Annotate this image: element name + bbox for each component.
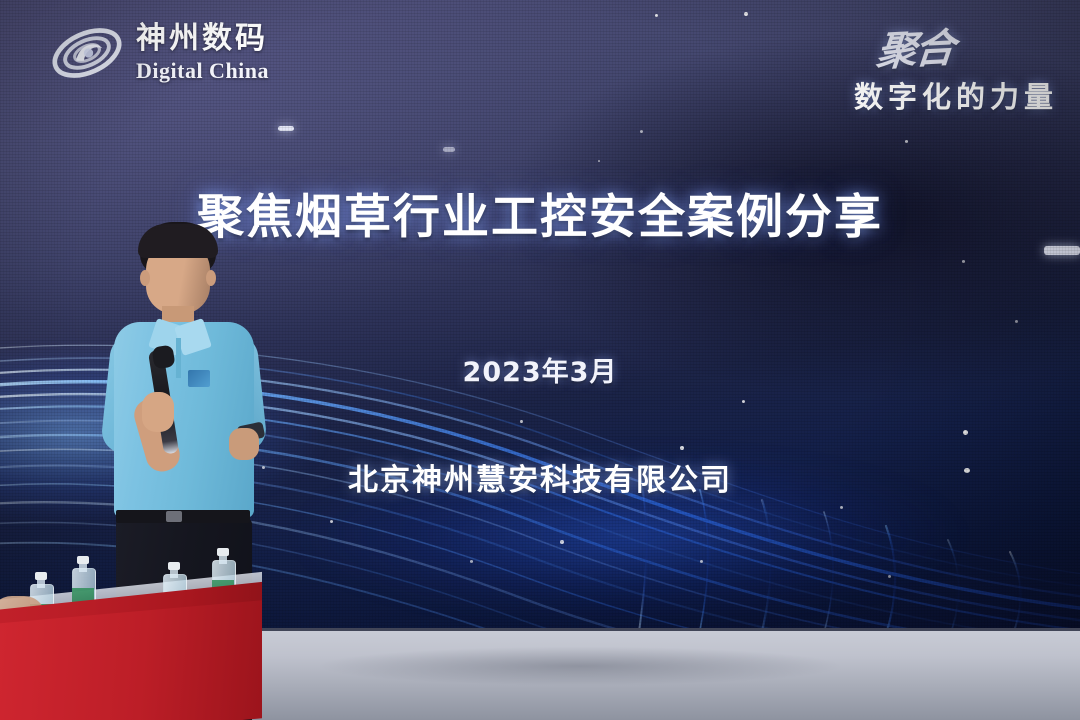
digital-china-spiral-icon bbox=[48, 22, 126, 84]
particle bbox=[655, 14, 658, 17]
particle bbox=[744, 12, 748, 16]
speaker-hand-right bbox=[229, 428, 259, 460]
speaker-ear-right bbox=[206, 270, 216, 286]
particle bbox=[598, 160, 600, 162]
particle bbox=[905, 140, 908, 143]
conference-photo: 神州数码 Digital China 聚合 数字化的力量 聚焦烟草行业工控安全案… bbox=[0, 0, 1080, 720]
speaker-hand-left bbox=[142, 392, 174, 432]
brand-name-cn: 神州数码 bbox=[136, 24, 269, 54]
light-streak bbox=[1044, 246, 1080, 255]
speaker-chest-logo bbox=[188, 370, 210, 387]
particle bbox=[962, 260, 965, 263]
light-streak bbox=[443, 147, 455, 152]
floor-shadow bbox=[230, 640, 930, 692]
light-streak bbox=[278, 126, 294, 131]
brand-name-en: Digital China bbox=[136, 60, 269, 82]
event-calligraphy: 聚合 bbox=[851, 15, 956, 78]
speaker-ear-left bbox=[140, 270, 150, 286]
particle bbox=[640, 130, 643, 133]
speaker-hair-top bbox=[138, 224, 218, 258]
speaker-placket bbox=[176, 338, 181, 378]
speaker-belt-buckle bbox=[166, 511, 182, 522]
brand-logo: 神州数码 Digital China bbox=[48, 22, 269, 84]
speaker-belt bbox=[116, 510, 250, 523]
event-subtitle: 数字化的力量 bbox=[854, 74, 1058, 116]
event-mark: 聚合 数字化的力量 bbox=[854, 18, 1058, 116]
speaker bbox=[96, 222, 276, 632]
